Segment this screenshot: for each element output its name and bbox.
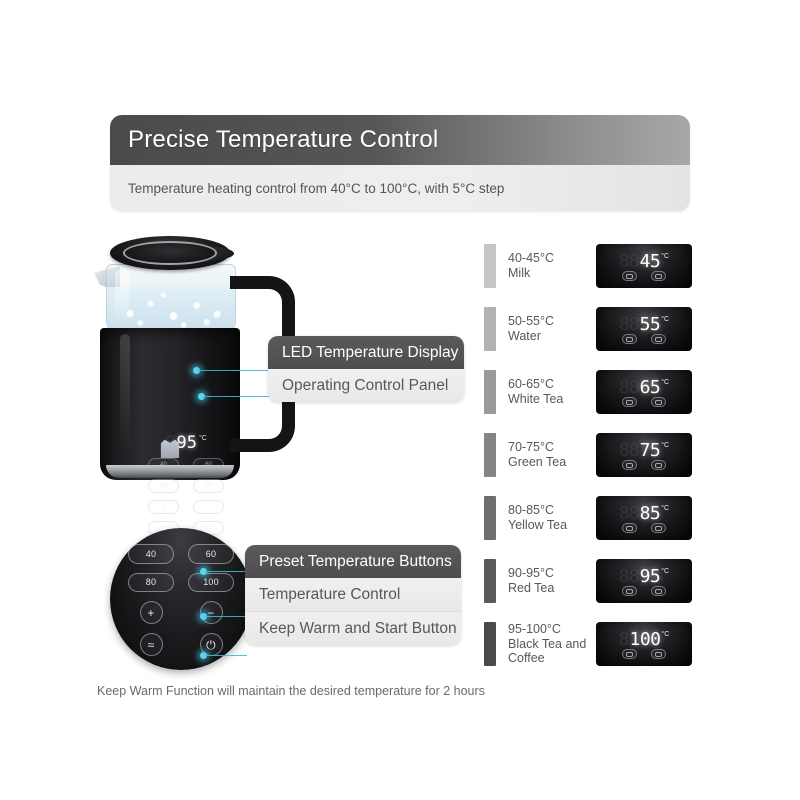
led-degree-unit: °C [661,253,669,260]
led-value: 75 [640,440,661,461]
temperature-label: 80-85°C Yellow Tea [508,503,596,533]
led-digits: 8 100 °C [596,629,692,649]
led-panel-buttons [596,586,692,596]
led-value: 45 [640,251,661,272]
temperature-color-bar [484,622,496,666]
led-dim-digits: 88 [619,440,639,461]
panel-button-right[interactable] [651,586,666,596]
plus-icon: + [147,607,154,619]
temperature-label: 70-75°C Green Tea [508,440,596,470]
preset-80-button[interactable]: 80 [128,573,174,593]
temperature-range: 50-55°C [508,314,596,329]
temperature-row: 90-95°C Red Tea 88 95 °C [484,555,694,607]
led-panel-buttons [596,271,692,281]
banner-title-bar: Precise Temperature Control [110,115,690,165]
led-panel-buttons [596,460,692,470]
led-dim-digits: 8 [619,629,629,650]
led-panel: 88 85 °C [596,496,692,540]
temperature-use: Yellow Tea [508,518,596,533]
kettle-button[interactable]: 80 [148,479,179,493]
kettle-chrome-base [106,465,234,478]
callout-group-kettle: LED Temperature Display Operating Contro… [268,336,464,402]
temperature-label: 90-95°C Red Tea [508,566,596,596]
led-value: 85 [640,503,661,524]
power-icon: ⏻ [206,639,216,651]
temperature-color-bar [484,433,496,477]
kettle-lid-center [150,245,234,262]
kettle-button[interactable]: 100 [193,479,224,493]
preset-60-button[interactable]: 60 [188,544,234,564]
kettle-lower-body: 8 95 °C 40 60 80 100 + − ≈ ⏻ [100,328,240,480]
led-value: 100 [629,629,660,650]
led-degree-unit: °C [661,568,669,575]
panel-button-left[interactable] [622,523,637,533]
led-value: 55 [640,314,661,335]
led-digits: 88 95 °C [596,566,692,586]
led-panel-buttons [596,397,692,407]
temperature-label: 50-55°C Water [508,314,596,344]
callout-line-control-panel [203,396,270,397]
kettle-button[interactable]: − [193,500,224,514]
temperature-row: 70-75°C Green Tea 88 75 °C [484,429,694,481]
led-digits: 88 45 °C [596,251,692,271]
header-banner: Precise Temperature Control Temperature … [110,115,690,211]
footnote-text: Keep Warm Function will maintain the des… [97,684,485,698]
panel-button-left[interactable] [622,460,637,470]
callout-preset-temperature-buttons[interactable]: Preset Temperature Buttons [245,545,461,578]
led-panel: 88 65 °C [596,370,692,414]
led-degree-unit: °C [661,316,669,323]
temperature-use: Water [508,329,596,344]
temperature-use: Black Tea and Coffee [508,637,596,667]
page-title: Precise Temperature Control [128,126,438,154]
panel-button-left[interactable] [622,271,637,281]
boiling-water [107,287,235,331]
kettle-illustration: 8 95 °C 40 60 80 100 + − ≈ ⏻ [88,236,278,506]
led-dim-digits: 88 [619,503,639,524]
led-degree-unit: °C [661,505,669,512]
temperature-label: 60-65°C White Tea [508,377,596,407]
panel-button-right[interactable] [651,397,666,407]
panel-button-left[interactable] [622,649,637,659]
led-panel: 88 95 °C [596,559,692,603]
temperature-label: 40-45°C Milk [508,251,596,281]
callout-label: Temperature Control [259,586,400,604]
callout-line-led-display [198,370,270,371]
temperature-color-bar [484,559,496,603]
temperature-color-bar [484,496,496,540]
temperature-range: 60-65°C [508,377,596,392]
led-digits: 88 65 °C [596,377,692,397]
callout-line-keep-warm [205,655,247,656]
callout-group-panel: Preset Temperature Buttons Temperature C… [245,545,461,645]
kettle-control-panel[interactable]: 8 95 °C 40 60 80 100 + − ≈ ⏻ [144,432,228,536]
led-degree-unit: °C [199,435,207,442]
control-panel-closeup: 40 60 80 100 + − ≈ ⏻ [110,528,252,670]
temperature-use: Red Tea [508,581,596,596]
led-panel-buttons [596,523,692,533]
kettle-led-display: 8 95 °C [144,432,228,454]
callout-temperature-control[interactable]: Temperature Control [245,578,461,611]
panel-button-right[interactable] [651,460,666,470]
led-digits: 88 75 °C [596,440,692,460]
temperature-row: 60-65°C White Tea 88 65 °C [484,366,694,418]
callout-line-temperature-control [205,616,247,617]
kettle-glass-body [106,264,236,332]
led-panel: 88 75 °C [596,433,692,477]
temperature-row: 95-100°C Black Tea and Coffee 8 100 °C [484,618,694,670]
temperature-color-bar [484,370,496,414]
panel-button-right[interactable] [651,334,666,344]
preset-100-button[interactable]: 100 [188,573,234,593]
temperature-use: Milk [508,266,596,281]
callout-label: LED Temperature Display [282,344,458,362]
led-value: 95 [640,566,661,587]
led-degree-unit: °C [661,379,669,386]
preset-40-button[interactable]: 40 [128,544,174,564]
led-value: 95 [176,433,196,453]
panel-button-right[interactable] [651,649,666,659]
callout-line-preset-buttons [205,571,247,572]
temperature-color-bar [484,307,496,351]
kettle-button[interactable]: + [148,500,179,514]
temperature-range: 90-95°C [508,566,596,581]
led-dim-digits: 88 [619,314,639,335]
temperature-use: Green Tea [508,455,596,470]
led-digits: 88 85 °C [596,503,692,523]
callout-operating-control-panel[interactable]: Operating Control Panel [268,369,464,402]
led-dim-digits: 88 [619,377,639,398]
temperature-range: 40-45°C [508,251,596,266]
temperature-range: 70-75°C [508,440,596,455]
callout-led-temperature-display[interactable]: LED Temperature Display [268,336,464,369]
callout-label: Preset Temperature Buttons [259,553,452,571]
preset-button-grid: 40 60 80 100 + − ≈ ⏻ [128,544,234,656]
temperature-label: 95-100°C Black Tea and Coffee [508,622,596,666]
led-digits: 88 55 °C [596,314,692,334]
infographic-canvas: Precise Temperature Control Temperature … [0,0,800,800]
led-value: 65 [640,377,661,398]
led-dim-digits: 88 [619,251,639,272]
temperature-row: 50-55°C Water 88 55 °C [484,303,694,355]
kettle-lid [110,236,230,270]
panel-button-right[interactable] [651,523,666,533]
led-panel: 8 100 °C [596,622,692,666]
increase-temperature-button[interactable]: + [140,601,163,624]
temperature-range: 95-100°C [508,622,596,637]
keep-warm-button[interactable]: ≈ [140,633,163,656]
callout-keep-warm-start-button[interactable]: Keep Warm and Start Button [245,611,461,645]
banner-subtitle-bar: Temperature heating control from 40°C to… [110,165,690,211]
page-subtitle: Temperature heating control from 40°C to… [128,181,504,196]
led-panel: 88 45 °C [596,244,692,288]
temperature-row: 80-85°C Yellow Tea 88 85 °C [484,492,694,544]
panel-button-left[interactable] [622,334,637,344]
temperature-row: 40-45°C Milk 88 45 °C [484,240,694,292]
callout-label: Keep Warm and Start Button [259,620,457,638]
callout-label: Operating Control Panel [282,377,448,395]
steam-icon: ≈ [148,639,155,651]
led-degree-unit: °C [662,631,670,638]
temperature-range: 80-85°C [508,503,596,518]
panel-button-left[interactable] [622,397,637,407]
led-degree-unit: °C [661,442,669,449]
panel-button-right[interactable] [651,271,666,281]
led-panel: 88 55 °C [596,307,692,351]
led-dim-digits: 88 [619,566,639,587]
temperature-color-bar [484,244,496,288]
led-panel-buttons [596,649,692,659]
temperature-use: White Tea [508,392,596,407]
panel-button-left[interactable] [622,586,637,596]
led-panel-buttons [596,334,692,344]
